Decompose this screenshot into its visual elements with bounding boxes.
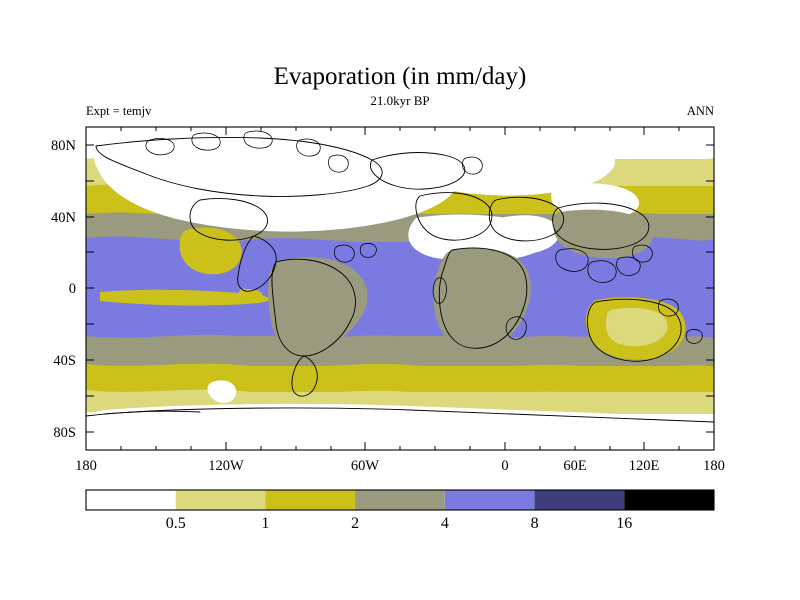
- colorbar-tick-label: 0.5: [166, 515, 186, 532]
- season-label: ANN: [687, 104, 714, 118]
- colorbar-band: [86, 490, 176, 510]
- colorbar-band: [176, 490, 266, 510]
- evaporation-map-figure: Evaporation (in mm/day) 21.0kyr BP Expt …: [0, 0, 800, 600]
- colorbar-tick-label: 8: [531, 515, 539, 532]
- colorbar-tick-label: 2: [351, 515, 359, 532]
- x-tick-label: 120W: [208, 458, 244, 474]
- colorbar-tick-label: 16: [616, 515, 632, 532]
- colorbar-band: [445, 490, 535, 510]
- equatorial-pacific-cold-tongue: [100, 289, 270, 306]
- colorbar-tick-label: 1: [261, 515, 269, 532]
- x-tick-label: 120E: [629, 458, 660, 474]
- colorbar-band: [624, 490, 714, 510]
- figure-subtitle: 21.0kyr BP: [370, 93, 429, 108]
- y-tick-label: 0: [69, 281, 76, 297]
- y-tick-label: 40S: [53, 353, 76, 369]
- colorbar-band: [355, 490, 445, 510]
- colorbar-band: [535, 490, 625, 510]
- map-plot-area: [86, 127, 714, 450]
- x-tick-label: 60W: [351, 458, 380, 474]
- figure-title: Evaporation (in mm/day): [274, 63, 527, 90]
- y-tick-label: 40N: [51, 210, 77, 226]
- y-tick-label: 80N: [51, 138, 77, 154]
- y-tick-label: 80S: [53, 425, 76, 441]
- x-tick-label: 0: [501, 458, 508, 474]
- colorbar-tick-label: 4: [441, 515, 449, 532]
- experiment-label: Expt = temjv: [86, 104, 152, 118]
- colorbar-bands: [86, 490, 714, 510]
- x-tick-label: 180: [703, 458, 725, 474]
- x-tick-label: 60E: [563, 458, 587, 474]
- colorbar-band: [265, 490, 355, 510]
- x-tick-label: 180: [75, 458, 97, 474]
